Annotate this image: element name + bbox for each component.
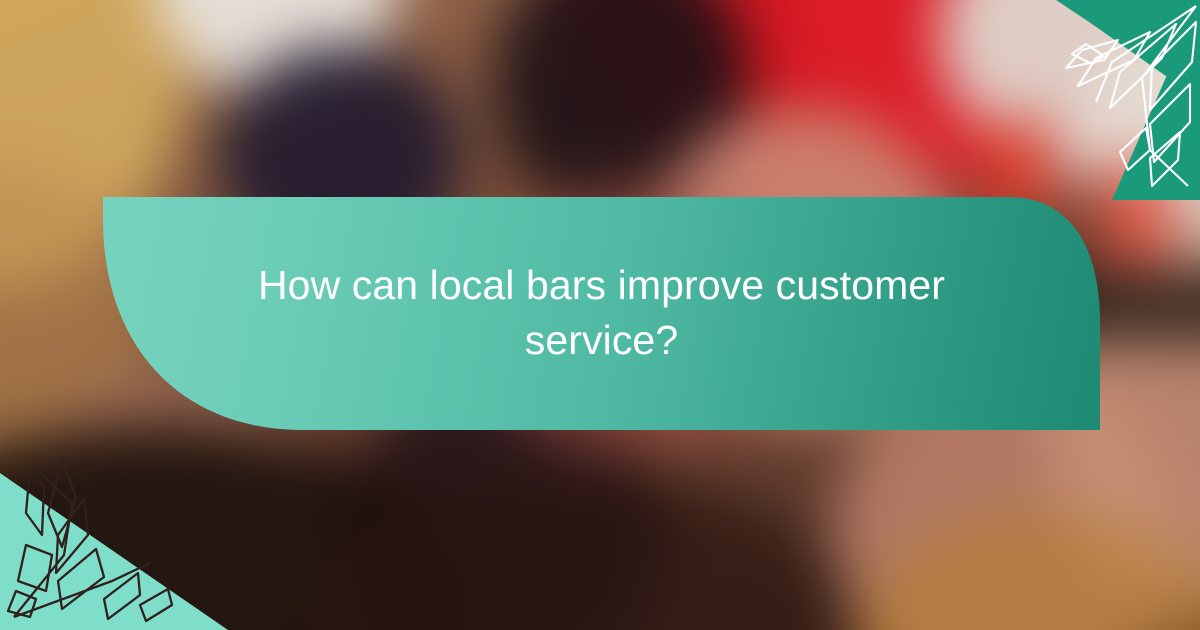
share-card: How can local bars improve customer serv… (0, 0, 1200, 630)
title-banner: How can local bars improve customer serv… (103, 197, 1100, 430)
page-title: How can local bars improve customer serv… (222, 258, 982, 368)
bg-blob-cup-2 (1098, 161, 1172, 267)
